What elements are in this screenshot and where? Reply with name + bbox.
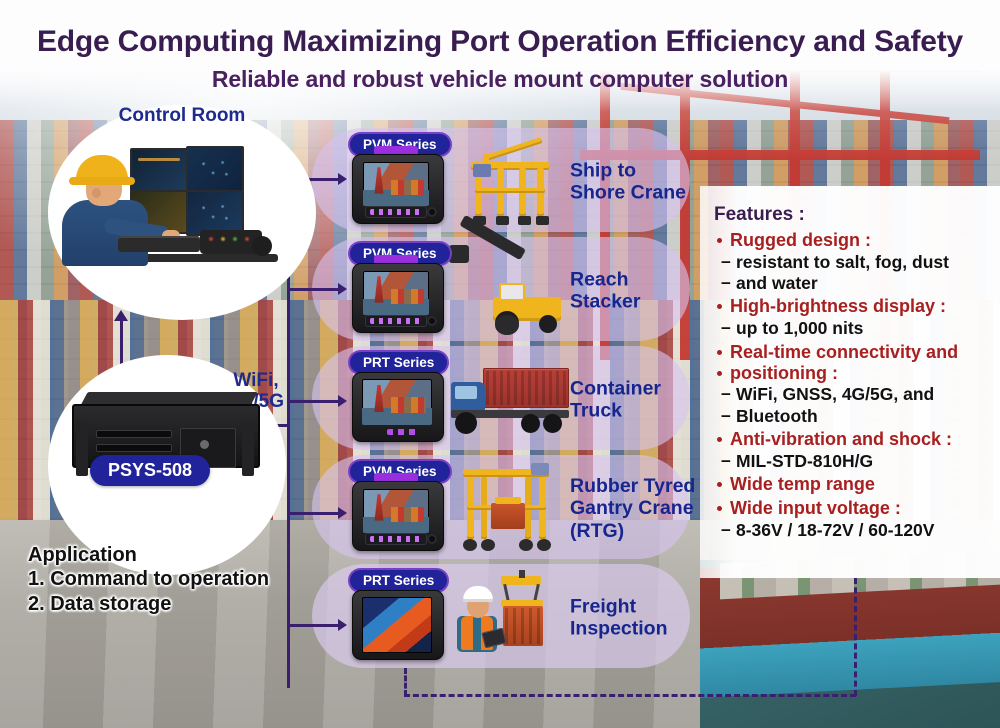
vehicle-mount-computer-icon[interactable] (352, 372, 444, 442)
connector-arrow-4 (338, 507, 347, 519)
device-camera-icon (427, 207, 437, 217)
psys-model-badge: PSYS-508 (90, 455, 210, 486)
connector-arrow-5 (338, 619, 347, 631)
server-vent-lower (96, 444, 172, 452)
row-label: Reach Stacker (570, 268, 700, 313)
vehicle-mount-computer-icon[interactable] (352, 154, 444, 224)
device-camera-icon (427, 316, 437, 326)
row-label: Freight Inspection (570, 595, 700, 640)
series-badge[interactable]: PRT Series (350, 352, 447, 373)
row-label-line1: Reach (570, 268, 629, 290)
rubber-tyred-gantry-crane-icon (447, 461, 572, 557)
container-truck-icon (447, 352, 572, 448)
connector-arrow-2 (338, 283, 347, 295)
jog-dial-icon (252, 236, 272, 256)
device-keypad (365, 533, 427, 545)
row-label-line1: Rubber Tyred (570, 475, 695, 497)
device-screen (362, 597, 432, 653)
solution-row: PRT Series Freight (312, 564, 712, 671)
solution-rows: PVM Series (312, 128, 712, 673)
vehicle-mount-computer-icon[interactable] (352, 263, 444, 333)
rugged-tablet-icon[interactable] (352, 590, 444, 660)
row-label: Ship to Shore Crane (570, 159, 700, 204)
page-subtitle: Reliable and robust vehicle mount comput… (0, 66, 1000, 93)
connector-arrow-1 (338, 173, 347, 185)
control-room-title: Control Room (48, 105, 316, 127)
connector-branch-2 (287, 288, 340, 291)
feature-subitem: 8-36V / 18-72V / 60-120V (714, 520, 990, 540)
connector-arrow-3 (338, 395, 347, 407)
solution-row: PVM Series (312, 237, 712, 344)
server-rack-ear-right (242, 420, 254, 476)
device-indicator-lights (387, 428, 419, 436)
link-arrow-up (114, 310, 128, 321)
device-chassis (352, 481, 444, 551)
series-badge[interactable]: PRT Series (350, 570, 447, 591)
row-label-line1: Container (570, 377, 661, 399)
feature-subitem: MIL-STD-810H/G (714, 451, 990, 471)
application-item-2: 2. Data storage (28, 592, 269, 616)
operator-ear (92, 188, 101, 198)
server-lock-icon (200, 440, 209, 449)
feature-subitem: up to 1,000 nits (714, 318, 990, 338)
device-chassis (352, 372, 444, 442)
monitor-top-right-icon (186, 146, 244, 192)
device-chassis (352, 590, 444, 660)
solution-row: PVM Series (312, 128, 712, 235)
application-heading: Application (28, 543, 269, 567)
freight-inspection-icon (447, 570, 572, 666)
title-block: Edge Computing Maximizing Port Operation… (0, 26, 1000, 93)
row-label-line3: (RTG) (570, 520, 624, 542)
bottom-dashed-riser-right (854, 578, 857, 696)
feature-item: Wide input voltage : (714, 498, 990, 519)
feature-subitem: resistant to salt, fog, dust (714, 252, 990, 272)
row-label: Rubber Tyred Gantry Crane (RTG) (570, 475, 700, 543)
infographic-canvas: Edge Computing Maximizing Port Operation… (0, 0, 1000, 728)
reach-stacker-icon (447, 243, 572, 339)
device-chassis (352, 263, 444, 333)
device-keypad (365, 206, 427, 218)
device-chassis (352, 154, 444, 224)
bottom-dashed-line (404, 694, 856, 697)
server-vent-upper (96, 430, 172, 438)
feature-subitem-cont: and water (714, 273, 990, 293)
feature-subitem-cont: Bluetooth (714, 406, 990, 426)
row-label-line1: Ship to (570, 159, 636, 181)
row-label-line2: Stacker (570, 291, 640, 313)
vehicle-mount-computer-icon[interactable] (352, 481, 444, 551)
device-screen (363, 162, 429, 206)
feature-item: High-brightness display : (714, 296, 990, 317)
wifi-label-line1: WiFi, (233, 370, 278, 391)
feature-item: Rugged design : (714, 230, 990, 251)
solution-row: PRT Series Container T (312, 346, 712, 453)
solution-row: PVM Series (312, 455, 712, 562)
row-label-line2: Shore Crane (570, 182, 686, 204)
device-screen (362, 379, 432, 425)
keyboard-icon (118, 236, 200, 252)
row-label-line2: Truck (570, 400, 622, 422)
page-title: Edge Computing Maximizing Port Operation… (0, 26, 1000, 58)
row-label-line1: Freight (570, 595, 636, 617)
feature-subitem: WiFi, GNSS, 4G/5G, and (714, 384, 990, 404)
connector-branch-4 (287, 512, 340, 515)
device-camera-icon (427, 534, 437, 544)
row-label-line2: Gantry Crane (570, 497, 694, 519)
device-screen (363, 271, 429, 315)
device-keypad (365, 315, 427, 327)
row-label: Container Truck (570, 377, 700, 422)
device-screen (363, 489, 429, 533)
feature-item: Wide temp range (714, 474, 990, 495)
application-item-1: 1. Command to operation (28, 567, 269, 591)
monitor-top-left-icon (130, 148, 188, 192)
feature-item: Real-time connectivity and (714, 342, 990, 363)
features-panel: Features : Rugged design : resistant to … (700, 186, 1000, 578)
server-rack-ear-left (76, 420, 88, 476)
connector-branch-5 (287, 624, 340, 627)
feature-item: Anti-vibration and shock : (714, 429, 990, 450)
row-label-line2: Inspection (570, 618, 668, 640)
features-title: Features : (714, 204, 990, 226)
bottom-dashed-riser-left (404, 668, 407, 696)
application-notes: Application 1. Command to operation 2. D… (28, 543, 269, 616)
feature-item-cont: positioning : (714, 363, 990, 384)
